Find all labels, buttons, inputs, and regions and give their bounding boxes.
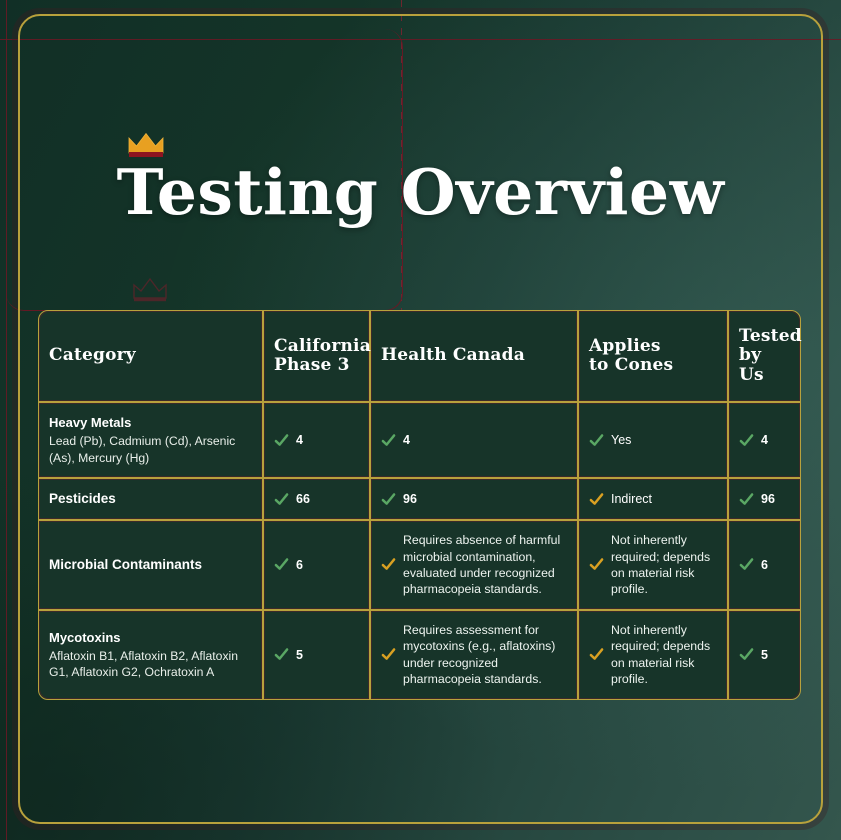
value-text: 5 [761,647,768,664]
value-text: 4 [403,432,410,449]
check-amber-icon [589,492,604,507]
column-header-california-line1: California [274,336,371,356]
guide-line-vertical-left [6,0,7,840]
crown-icon [126,132,166,158]
cell-applies-to-cones: Not inherently required; depends on mate… [578,610,728,700]
column-header-tested-line2: by Us [739,345,764,384]
check-green-icon [739,492,754,507]
value-text: 6 [761,557,768,574]
table-header-row: Category California Phase 3 Health Canad… [38,310,801,402]
check-amber-icon [381,647,396,662]
category-name: Mycotoxins [49,629,252,646]
crown-watermark-icon [132,276,168,302]
cell-tested-by-us: 5 [728,610,801,700]
slide-canvas: Testing Overview Category California Pha… [0,0,841,840]
cell-california: 66 [263,478,370,520]
check-green-icon [589,433,604,448]
cell-health-canada: 4 [370,402,578,478]
table-row: Mycotoxins Aflatoxin B1, Aflatoxin B2, A… [38,610,801,700]
value-text: 4 [761,432,768,449]
cell-applies-to-cones: Indirect [578,478,728,520]
value-text: 6 [296,557,303,574]
table-row: Pesticides 66 [38,478,801,520]
column-header-applies-to-cones: Applies to Cones [578,310,728,402]
check-green-icon [274,433,289,448]
check-green-icon [274,647,289,662]
column-header-cones-line2: to Cones [589,355,673,375]
column-header-health-canada: Health Canada [370,310,578,402]
check-green-icon [739,557,754,572]
table-row: Heavy Metals Lead (Pb), Cadmium (Cd), Ar… [38,402,801,478]
value-text: Not inherently required; depends on mate… [611,622,717,688]
check-amber-icon [589,557,604,572]
category-name: Microbial Contaminants [49,556,252,574]
cell-tested-by-us: 4 [728,402,801,478]
cell-applies-to-cones: Yes [578,402,728,478]
value-text: Indirect [611,491,652,508]
value-text: Requires assessment for mycotoxins (e.g.… [403,622,567,688]
category-detail: Aflatoxin B1, Aflatoxin B2, Aflatoxin G1… [49,648,252,681]
value-text: 96 [761,491,775,508]
value-text: Requires absence of harmful microbial co… [403,532,567,598]
cell-category: Heavy Metals Lead (Pb), Cadmium (Cd), Ar… [38,402,263,478]
column-header-tested-by-us: Tested by Us [728,310,801,402]
category-name: Pesticides [49,490,252,508]
page-title: Testing Overview [0,160,841,224]
check-green-icon [381,492,396,507]
value-text: 66 [296,491,310,508]
table-row: Microbial Contaminants 6 [38,520,801,610]
cell-health-canada: 96 [370,478,578,520]
value-text: Yes [611,432,631,449]
value-text: 96 [403,491,417,508]
check-green-icon [739,647,754,662]
cell-california: 6 [263,520,370,610]
testing-overview-table: Category California Phase 3 Health Canad… [38,310,801,700]
column-header-california: California Phase 3 [263,310,370,402]
value-text: 4 [296,432,303,449]
cell-category: Mycotoxins Aflatoxin B1, Aflatoxin B2, A… [38,610,263,700]
column-header-category: Category [38,310,263,402]
cell-health-canada: Requires absence of harmful microbial co… [370,520,578,610]
cell-california: 5 [263,610,370,700]
check-green-icon [739,433,754,448]
cell-health-canada: Requires assessment for mycotoxins (e.g.… [370,610,578,700]
table-body: Heavy Metals Lead (Pb), Cadmium (Cd), Ar… [38,402,801,700]
check-amber-icon [589,647,604,662]
cell-california: 4 [263,402,370,478]
category-detail: Lead (Pb), Cadmium (Cd), Arsenic (As), M… [49,433,252,466]
check-green-icon [274,492,289,507]
cell-tested-by-us: 96 [728,478,801,520]
cell-category: Microbial Contaminants [38,520,263,610]
value-text: Not inherently required; depends on mate… [611,532,717,598]
testing-overview-table-wrap: Category California Phase 3 Health Canad… [38,310,801,700]
column-header-cones-line1: Applies [589,336,661,356]
title-block: Testing Overview [0,132,841,224]
value-text: 5 [296,647,303,664]
cell-applies-to-cones: Not inherently required; depends on mate… [578,520,728,610]
cell-tested-by-us: 6 [728,520,801,610]
guide-line-horizontal-top [0,39,841,40]
check-green-icon [274,557,289,572]
category-name: Heavy Metals [49,414,252,431]
column-header-category-label: Category [49,345,136,365]
cell-category: Pesticides [38,478,263,520]
column-header-california-line2: Phase 3 [274,355,350,375]
column-header-health-canada-label: Health Canada [381,345,525,365]
check-green-icon [381,433,396,448]
check-amber-icon [381,557,396,572]
column-header-tested-line1: Tested [739,326,802,346]
